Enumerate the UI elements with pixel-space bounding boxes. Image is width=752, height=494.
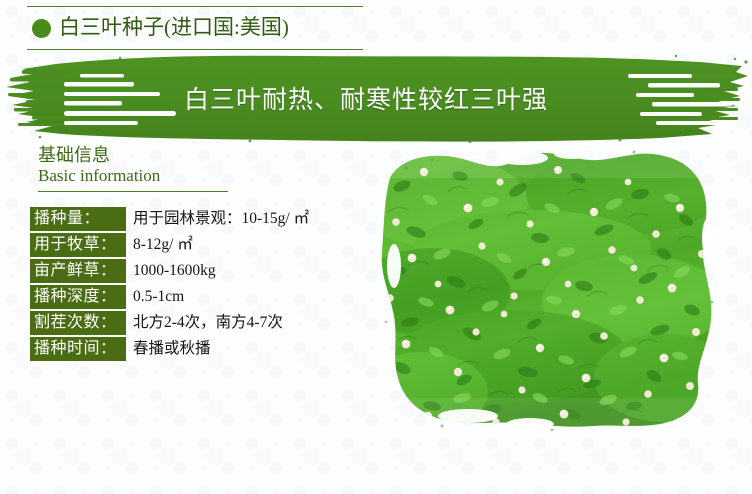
page-title: 白三叶种子(进口国:美国) (59, 17, 289, 40)
section-heading: 基础信息 Basic information (38, 145, 230, 192)
spec-label: 播种深度： (30, 285, 126, 309)
section-heading-divider (38, 191, 228, 192)
spec-label: 割茬次数： (30, 311, 126, 335)
banner-title: 白三叶耐热、耐寒性较红三叶强 (0, 52, 752, 144)
spec-value: 北方2-4次，南方4-7次 (126, 315, 283, 331)
spec-value: 8-12g/ ㎡ (126, 237, 193, 253)
table-row: 播种量： 用于园林景观：10-15g/ ㎡ (30, 207, 309, 231)
spec-table: 播种量： 用于园林景观：10-15g/ ㎡ 用于牧草： 8-12g/ ㎡ 亩产鲜… (30, 207, 309, 363)
table-row: 割茬次数： 北方2-4次，南方4-7次 (30, 311, 309, 335)
product-title-header: 白三叶种子(进口国:美国) (27, 6, 363, 50)
spec-value: 春播或秋播 (126, 341, 211, 357)
spec-label: 亩产鲜草： (30, 259, 126, 283)
spec-value: 0.5-1cm (126, 289, 184, 305)
section-heading-cn: 基础信息 (38, 145, 230, 166)
filled-circle-icon (32, 19, 51, 38)
spec-label: 播种量： (30, 207, 126, 231)
spec-label: 播种时间： (30, 337, 126, 361)
section-heading-en: Basic information (38, 166, 230, 190)
table-row: 亩产鲜草： 1000-1600kg (30, 259, 309, 283)
page-root: 白三叶种子(进口国:美国) (0, 0, 752, 494)
white-clover-field-photo (372, 142, 720, 434)
table-row: 播种时间： 春播或秋播 (30, 337, 309, 361)
spec-value: 1000-1600kg (126, 263, 216, 279)
spec-label: 用于牧草： (30, 233, 126, 257)
table-row: 用于牧草： 8-12g/ ㎡ (30, 233, 309, 257)
clover-photo-graphic (372, 142, 720, 434)
banner: 白三叶耐热、耐寒性较红三叶强 (0, 52, 752, 144)
table-row: 播种深度： 0.5-1cm (30, 285, 309, 309)
spec-value: 用于园林景观：10-15g/ ㎡ (126, 211, 309, 227)
